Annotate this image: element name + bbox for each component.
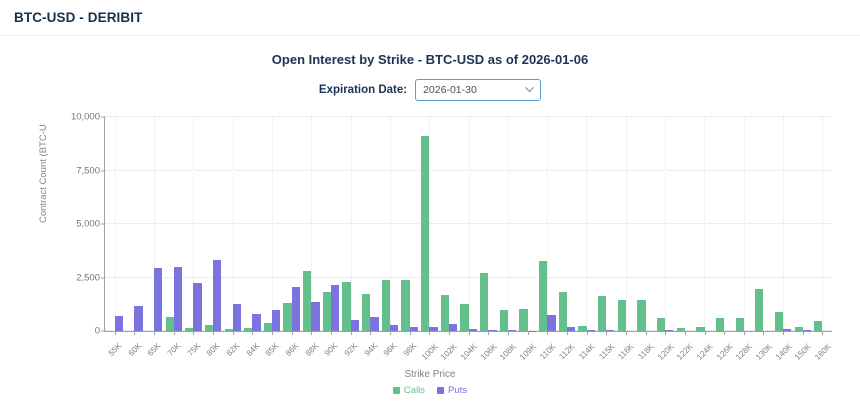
bar-group[interactable] xyxy=(498,117,518,331)
bar-calls[interactable] xyxy=(185,328,193,331)
x-axis-tick-mark xyxy=(705,331,706,335)
bar-puts[interactable] xyxy=(567,327,575,331)
app-root: BTC-USD - DERIBIT Open Interest by Strik… xyxy=(0,0,860,404)
x-axis-tick-label: 160K xyxy=(813,342,833,362)
x-axis-tick-label: 80K xyxy=(205,341,222,358)
x-axis-tick-mark xyxy=(783,331,784,335)
x-axis-tick-mark xyxy=(528,331,529,335)
y-axis-tick-label: 7,500 xyxy=(76,165,100,176)
x-axis-tick-slot: 109K xyxy=(517,336,537,368)
x-axis-tick-mark xyxy=(410,331,411,335)
x-axis-tick-label: 75K xyxy=(185,341,202,358)
x-axis-tick-slot: 108K xyxy=(497,336,517,368)
x-axis-tick-slot: 128K xyxy=(734,336,754,368)
bar-calls[interactable] xyxy=(283,303,291,331)
x-axis-tick-label: 114K xyxy=(577,342,596,361)
bar-calls[interactable] xyxy=(244,328,252,331)
x-axis-tick-mark xyxy=(390,331,391,335)
bar-calls[interactable] xyxy=(696,327,704,331)
bar-calls[interactable] xyxy=(480,273,488,331)
bar-puts[interactable] xyxy=(174,267,182,331)
x-axis-tick-slot: 100K xyxy=(419,336,439,368)
x-axis-tick-label: 90K xyxy=(323,341,340,358)
x-axis-tick-slot: 116K xyxy=(615,336,635,368)
bar-group[interactable] xyxy=(262,117,282,331)
bar-group[interactable] xyxy=(341,117,361,331)
x-axis-tick-mark xyxy=(469,331,470,335)
bar-group[interactable] xyxy=(400,117,420,331)
bar-calls[interactable] xyxy=(382,280,390,331)
bar-calls[interactable] xyxy=(303,271,311,331)
chart-legend: Calls Puts xyxy=(14,385,846,396)
x-axis-tick-label: 92K xyxy=(343,341,360,358)
x-axis-tick-label: 128K xyxy=(734,342,754,362)
bar-calls[interactable] xyxy=(755,289,763,331)
x-axis-tick-label: 122K xyxy=(675,342,695,362)
x-axis-tick-label: 109K xyxy=(518,342,538,362)
bar-puts[interactable] xyxy=(606,330,614,331)
bar-puts[interactable] xyxy=(272,310,280,331)
x-axis-tick-slot: 82K xyxy=(222,336,242,368)
bar-group[interactable] xyxy=(675,117,695,331)
x-axis-tick-slot: 84K xyxy=(242,336,262,368)
bar-puts[interactable] xyxy=(233,304,241,331)
bar-puts[interactable] xyxy=(488,330,496,331)
x-axis-tick-label: 150K xyxy=(793,342,813,362)
x-axis-tick-label: 124K xyxy=(695,342,715,362)
bar-group[interactable] xyxy=(478,117,498,331)
x-axis-tick-mark xyxy=(154,331,155,335)
plot-area: Contract Count (BTC-U 02,5005,0007,50010… xyxy=(14,111,846,373)
x-axis-tick-slot: 114K xyxy=(576,336,596,368)
bar-puts[interactable] xyxy=(665,330,673,331)
bar-calls[interactable] xyxy=(657,318,665,331)
x-axis-tick-slot: 102K xyxy=(438,336,458,368)
x-axis-tick-mark xyxy=(193,331,194,335)
x-axis-tick-mark xyxy=(803,331,804,335)
bar-group[interactable] xyxy=(754,117,774,331)
bar-group[interactable] xyxy=(439,117,459,331)
x-axis-tick-label: 126K xyxy=(715,342,735,362)
legend-label-calls: Calls xyxy=(404,385,425,396)
bar-calls[interactable] xyxy=(795,327,803,331)
bar-group[interactable] xyxy=(537,117,557,331)
x-axis-tick-label: 106K xyxy=(479,342,499,362)
x-axis-tick-label: 98K xyxy=(402,341,419,358)
x-axis-tick-slot: 94K xyxy=(360,336,380,368)
x-axis-tick-slot: 122K xyxy=(674,336,694,368)
x-axis-tick-label: 118K xyxy=(636,342,655,361)
x-axis-tick-mark xyxy=(724,331,725,335)
x-axis-tick-slot: 55K xyxy=(104,336,124,368)
x-axis-tick-slot: 140K xyxy=(773,336,793,368)
bar-group[interactable] xyxy=(223,117,243,331)
bar-group[interactable] xyxy=(380,117,400,331)
bar-puts[interactable] xyxy=(252,314,260,331)
x-axis-tick-mark xyxy=(115,331,116,335)
x-axis-tick-slot: 130K xyxy=(753,336,773,368)
x-axis-tick-mark xyxy=(665,331,666,335)
bar-calls[interactable] xyxy=(460,304,468,331)
bar-group[interactable] xyxy=(459,117,479,331)
x-axis-tick-slot: 86K xyxy=(281,336,301,368)
expiration-date-select-wrap: 2026-01-30 xyxy=(415,79,541,101)
bar-group[interactable] xyxy=(105,117,125,331)
x-axis-tick-label: 108K xyxy=(498,342,518,362)
bar-puts[interactable] xyxy=(587,330,595,331)
bar-group[interactable] xyxy=(144,117,164,331)
x-axis-tick-slot: 106K xyxy=(478,336,498,368)
bar-calls[interactable] xyxy=(618,300,626,331)
x-axis-tick-mark xyxy=(606,331,607,335)
bar-puts[interactable] xyxy=(508,330,516,331)
bar-puts[interactable] xyxy=(154,268,162,331)
x-axis-tick-slot: 80K xyxy=(202,336,222,368)
bar-calls[interactable] xyxy=(323,292,331,331)
bar-calls[interactable] xyxy=(539,261,547,331)
x-axis-tick-label: 85K xyxy=(264,341,281,358)
bar-puts[interactable] xyxy=(429,327,437,331)
x-axis-tick-slot: 104K xyxy=(458,336,478,368)
x-axis-tick-mark xyxy=(213,331,214,335)
bar-group[interactable] xyxy=(282,117,302,331)
x-axis-tick-label: 115K xyxy=(597,342,616,361)
bar-puts[interactable] xyxy=(783,329,791,331)
bar-group[interactable] xyxy=(577,117,597,331)
x-axis-title: Strike Price xyxy=(14,369,846,380)
x-axis-tick-label: 94K xyxy=(362,341,379,358)
x-axis-tick-mark xyxy=(272,331,273,335)
bar-calls[interactable] xyxy=(205,325,213,331)
bar-calls[interactable] xyxy=(166,317,174,331)
x-axis-tick-slot: 75K xyxy=(183,336,203,368)
bar-puts[interactable] xyxy=(390,325,398,331)
bar-calls[interactable] xyxy=(225,329,233,331)
bar-puts[interactable] xyxy=(134,306,142,331)
x-axis-tick-slot: 65K xyxy=(143,336,163,368)
bar-group[interactable] xyxy=(813,117,833,331)
x-axis-tick-mark xyxy=(822,331,823,335)
x-axis-tick-mark xyxy=(763,331,764,335)
x-axis-tick-mark xyxy=(646,331,647,335)
chart-controls: Expiration Date: 2026-01-30 xyxy=(14,79,846,101)
bar-group[interactable] xyxy=(793,117,813,331)
x-axis-tick-mark xyxy=(233,331,234,335)
bar-calls[interactable] xyxy=(677,328,685,331)
page-title: BTC-USD - DERIBIT xyxy=(14,10,142,25)
bar-puts[interactable] xyxy=(331,285,339,331)
x-axis-tick-mark xyxy=(508,331,509,335)
x-axis-tick-mark xyxy=(449,331,450,335)
bar-puts[interactable] xyxy=(311,302,319,331)
bar-group[interactable] xyxy=(184,117,204,331)
x-axis-tick-mark xyxy=(370,331,371,335)
bar-puts[interactable] xyxy=(449,324,457,331)
legend-swatch-puts-icon xyxy=(437,387,444,394)
bar-series-group xyxy=(105,117,832,331)
x-axis-tick-mark xyxy=(626,331,627,335)
plot-canvas: 02,5005,0007,50010,000 xyxy=(104,117,832,332)
x-axis-tick-mark xyxy=(567,331,568,335)
x-axis-tick-label: 82K xyxy=(225,341,242,358)
bar-group[interactable] xyxy=(302,117,322,331)
bar-puts[interactable] xyxy=(351,320,359,331)
x-axis-tick-mark xyxy=(685,331,686,335)
bar-calls[interactable] xyxy=(500,310,508,331)
bar-group[interactable] xyxy=(636,117,656,331)
x-axis-tick-slot: 96K xyxy=(379,336,399,368)
bar-group[interactable] xyxy=(243,117,263,331)
bar-group[interactable] xyxy=(695,117,715,331)
bar-puts[interactable] xyxy=(292,287,300,331)
x-axis-tick-labels: 55K60K65K70K75K80K82K84K85K86K88K90K92K9… xyxy=(104,336,832,368)
bar-calls[interactable] xyxy=(716,318,724,331)
x-axis-tick-label: 84K xyxy=(244,341,261,358)
y-axis-tick-label: 0 xyxy=(95,326,100,337)
legend-label-puts: Puts xyxy=(448,385,467,396)
bar-group[interactable] xyxy=(734,117,754,331)
x-axis-tick-label: 130K xyxy=(754,342,774,362)
bar-calls[interactable] xyxy=(264,323,272,331)
legend-item-calls[interactable]: Calls xyxy=(393,385,425,396)
y-axis-title: Contract Count (BTC-U xyxy=(38,124,49,223)
x-axis-tick-label: 120K xyxy=(656,342,676,362)
bar-group[interactable] xyxy=(203,117,223,331)
x-axis-tick-label: 110K xyxy=(538,342,557,361)
bar-group[interactable] xyxy=(125,117,145,331)
x-axis-tick-mark xyxy=(744,331,745,335)
x-axis-tick-slot: 88K xyxy=(301,336,321,368)
x-axis-tick-slot: 120K xyxy=(655,336,675,368)
x-axis-tick-label: 65K xyxy=(146,341,163,358)
bar-group[interactable] xyxy=(321,117,341,331)
x-axis-tick-mark xyxy=(134,331,135,335)
bar-puts[interactable] xyxy=(370,317,378,331)
x-axis-tick-label: 116K xyxy=(617,342,636,361)
bar-group[interactable] xyxy=(773,117,793,331)
bar-puts[interactable] xyxy=(547,315,555,331)
x-axis-tick-slot: 160K xyxy=(812,336,832,368)
bar-calls[interactable] xyxy=(736,318,744,331)
bar-group[interactable] xyxy=(361,117,381,331)
x-axis-tick-mark xyxy=(587,331,588,335)
bar-puts[interactable] xyxy=(115,316,123,331)
bar-calls[interactable] xyxy=(637,300,645,331)
x-axis-tick-slot: 150K xyxy=(793,336,813,368)
x-axis-tick-mark xyxy=(331,331,332,335)
x-axis-tick-slot: 124K xyxy=(694,336,714,368)
chart-card: Open Interest by Strike - BTC-USD as of … xyxy=(0,52,860,373)
expiration-date-select[interactable]: 2026-01-30 xyxy=(415,79,541,101)
bar-group[interactable] xyxy=(518,117,538,331)
bar-calls[interactable] xyxy=(421,136,429,331)
bar-puts[interactable] xyxy=(410,327,418,331)
x-axis-tick-label: 60K xyxy=(126,341,143,358)
y-axis-tick-label: 10,000 xyxy=(71,112,100,123)
x-axis-tick-mark xyxy=(429,331,430,335)
bar-group[interactable] xyxy=(714,117,734,331)
x-axis-tick-label: 86K xyxy=(284,341,301,358)
bar-puts[interactable] xyxy=(469,329,477,331)
x-axis-tick-label: 88K xyxy=(303,341,320,358)
app-header: BTC-USD - DERIBIT xyxy=(0,0,860,36)
x-axis-tick-mark xyxy=(174,331,175,335)
x-axis-tick-mark xyxy=(351,331,352,335)
bar-group[interactable] xyxy=(420,117,440,331)
bar-calls[interactable] xyxy=(441,295,449,331)
x-axis-tick-slot: 118K xyxy=(635,336,655,368)
y-axis-tick-label: 2,500 xyxy=(76,272,100,283)
x-axis-tick-label: 96K xyxy=(382,341,399,358)
x-axis-tick-slot: 126K xyxy=(714,336,734,368)
bar-calls[interactable] xyxy=(598,296,606,331)
x-axis-tick-label: 100K xyxy=(420,342,440,362)
bar-calls[interactable] xyxy=(342,282,350,331)
x-axis-tick-slot: 90K xyxy=(320,336,340,368)
bar-group[interactable] xyxy=(164,117,184,331)
bar-calls[interactable] xyxy=(814,321,822,331)
bar-calls[interactable] xyxy=(401,280,409,331)
x-axis-tick-slot: 98K xyxy=(399,336,419,368)
bar-puts[interactable] xyxy=(803,330,811,331)
x-axis-tick-slot: 85K xyxy=(261,336,281,368)
x-axis-tick-slot: 60K xyxy=(124,336,144,368)
x-axis-tick-mark xyxy=(292,331,293,335)
x-axis-tick-label: 102K xyxy=(439,342,459,362)
bar-calls[interactable] xyxy=(362,294,370,331)
x-axis-tick-mark xyxy=(311,331,312,335)
bar-group[interactable] xyxy=(616,117,636,331)
x-axis-tick-mark xyxy=(252,331,253,335)
x-axis-tick-slot: 112K xyxy=(556,336,576,368)
x-axis-tick-label: 55K xyxy=(107,341,124,358)
legend-swatch-calls-icon xyxy=(393,387,400,394)
bar-calls[interactable] xyxy=(775,312,783,331)
x-axis-tick-label: 104K xyxy=(459,342,479,362)
y-axis-tick-label: 5,000 xyxy=(76,219,100,230)
bar-group[interactable] xyxy=(655,117,675,331)
x-axis-tick-mark xyxy=(547,331,548,335)
x-axis-tick-slot: 92K xyxy=(340,336,360,368)
x-axis-tick-label: 70K xyxy=(166,341,183,358)
bar-puts[interactable] xyxy=(213,260,221,331)
bar-puts[interactable] xyxy=(193,283,201,331)
bar-group[interactable] xyxy=(596,117,616,331)
bar-calls[interactable] xyxy=(519,309,527,331)
bar-calls[interactable] xyxy=(559,292,567,331)
x-axis-tick-label: 140K xyxy=(774,342,794,362)
chart-title: Open Interest by Strike - BTC-USD as of … xyxy=(14,52,846,67)
x-axis-tick-slot: 110K xyxy=(537,336,557,368)
bar-calls[interactable] xyxy=(578,326,586,331)
expiration-date-label: Expiration Date: xyxy=(319,84,407,96)
x-axis-tick-label: 112K xyxy=(558,342,577,361)
legend-item-puts[interactable]: Puts xyxy=(437,385,467,396)
x-axis-tick-slot: 70K xyxy=(163,336,183,368)
x-axis-tick-mark xyxy=(488,331,489,335)
bar-group[interactable] xyxy=(557,117,577,331)
x-axis-tick-slot: 115K xyxy=(596,336,616,368)
